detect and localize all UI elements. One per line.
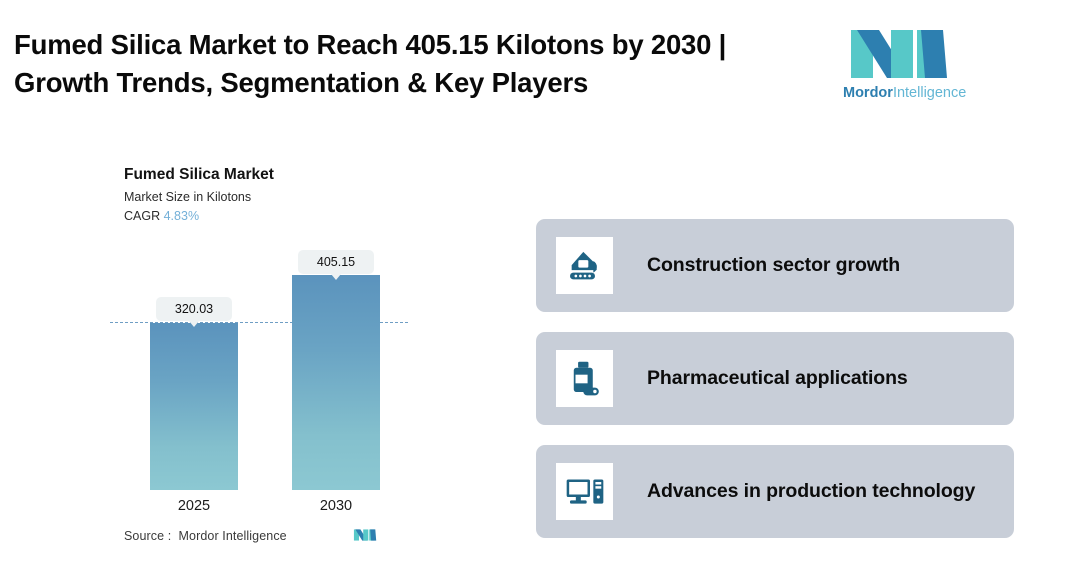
bar-2025 <box>150 323 238 490</box>
chart-source: Source : Mordor Intelligence <box>124 529 287 543</box>
chart-cagr: CAGR 4.83% <box>124 209 199 223</box>
source-name: Mordor Intelligence <box>179 529 287 543</box>
chart-title: Fumed Silica Market <box>124 166 274 184</box>
driver-card-production-technology[interactable]: Advances in production technology <box>536 445 1014 538</box>
bar-value-label-2030: 405.15 <box>298 250 374 274</box>
icon-tile <box>556 350 613 407</box>
source-label: Source : <box>124 529 171 543</box>
chart-subtitle: Market Size in Kilotons <box>124 190 251 204</box>
mordor-logo-mark <box>847 26 959 82</box>
driver-card-label: Advances in production technology <box>647 477 975 505</box>
icon-tile <box>556 463 613 520</box>
driver-card-label: Construction sector growth <box>647 251 900 279</box>
cagr-value: 4.83% <box>164 209 199 223</box>
mordor-logo-mark-small <box>353 526 379 544</box>
logo-word-mordor: Mordor <box>843 85 893 101</box>
driver-card-label: Pharmaceutical applications <box>647 364 908 392</box>
bar-2030 <box>292 275 380 490</box>
cagr-label: CAGR <box>124 209 160 223</box>
driver-card-construction[interactable]: Construction sector growth <box>536 219 1014 312</box>
page-title: Fumed Silica Market to Reach 405.15 Kilo… <box>14 26 814 102</box>
desktop-computer-icon <box>565 476 605 508</box>
x-axis-tick-2030: 2030 <box>276 498 396 514</box>
driver-card-pharmaceutical[interactable]: Pharmaceutical applications <box>536 332 1014 425</box>
bar-value-label-2025: 320.03 <box>156 297 232 321</box>
medicine-bottle-icon <box>567 360 603 398</box>
mordor-logo-wordmark: MordorIntelligence <box>843 85 963 101</box>
excavator-icon <box>565 249 605 283</box>
x-axis-tick-2025: 2025 <box>134 498 254 514</box>
icon-tile <box>556 237 613 294</box>
logo-word-intelligence: Intelligence <box>893 85 966 101</box>
mordor-intelligence-logo: MordorIntelligence <box>843 26 963 106</box>
